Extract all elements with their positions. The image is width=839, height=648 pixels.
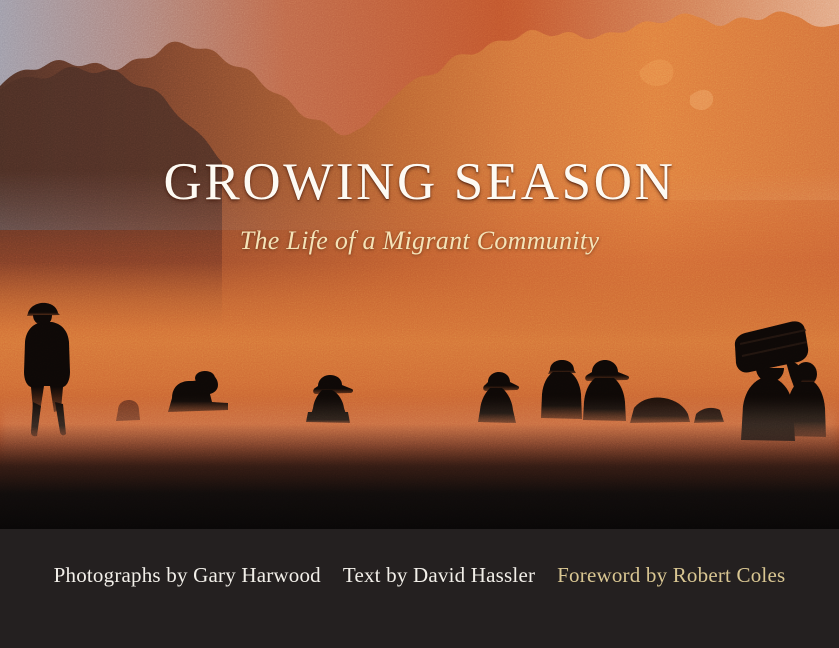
- credit-foreword: Foreword by Robert Coles: [557, 563, 785, 587]
- credit-text-author: Text by David Hassler: [343, 563, 535, 587]
- credit-band: Photographs by Gary HarwoodText by David…: [0, 529, 839, 648]
- credit-photographs: Photographs by Gary Harwood: [54, 563, 321, 587]
- cover-photograph: GROWING SEASON The Life of a Migrant Com…: [0, 0, 839, 529]
- book-cover: GROWING SEASON The Life of a Migrant Com…: [0, 0, 839, 648]
- dark-field-foreground: [0, 424, 839, 529]
- credits-line: Photographs by Gary HarwoodText by David…: [0, 563, 839, 588]
